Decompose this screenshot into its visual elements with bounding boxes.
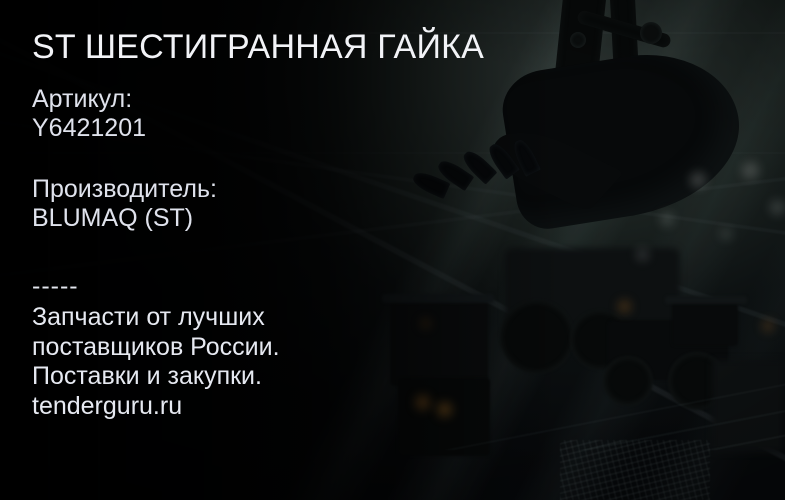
radiator-grille-texture: [560, 440, 710, 500]
promo-website: tenderguru.ru: [32, 392, 280, 422]
bokeh-light-warm: [762, 320, 774, 332]
article-value: Y6421201: [32, 114, 146, 143]
promo-line-3: Поставки и закупки.: [32, 362, 280, 392]
bokeh-light: [720, 228, 732, 240]
banner-content: ST ШЕСТИГРАННАЯ ГАЙКА Артикул: Y6421201 …: [32, 0, 552, 500]
promo-text: Запчасти от лучших поставщиков России. П…: [32, 303, 280, 421]
article-field: Артикул: Y6421201: [32, 85, 146, 143]
pivot-pin: [640, 22, 662, 44]
article-label: Артикул:: [32, 85, 132, 113]
manufacturer-label: Производитель:: [32, 175, 217, 203]
promo-line-2: поставщиков России.: [32, 333, 280, 363]
bokeh-light: [636, 248, 649, 261]
product-title: ST ШЕСТИГРАННАЯ ГАЙКА: [32, 28, 484, 66]
bokeh-light: [770, 200, 785, 215]
divider-dashes: -----: [32, 272, 79, 301]
tractor-roof: [665, 296, 747, 304]
manufacturer-field: Производитель: BLUMAQ (ST): [32, 175, 217, 233]
bokeh-light: [660, 212, 674, 226]
bokeh-light: [742, 162, 759, 179]
bokeh-light-warm: [618, 300, 631, 313]
bokeh-light: [690, 172, 706, 188]
manufacturer-value: BLUMAQ (ST): [32, 204, 217, 233]
product-banner: ST ШЕСТИГРАННАЯ ГАЙКА Артикул: Y6421201 …: [0, 0, 785, 500]
promo-line-1: Запчасти от лучших: [32, 303, 280, 333]
pivot-pin: [570, 32, 586, 48]
